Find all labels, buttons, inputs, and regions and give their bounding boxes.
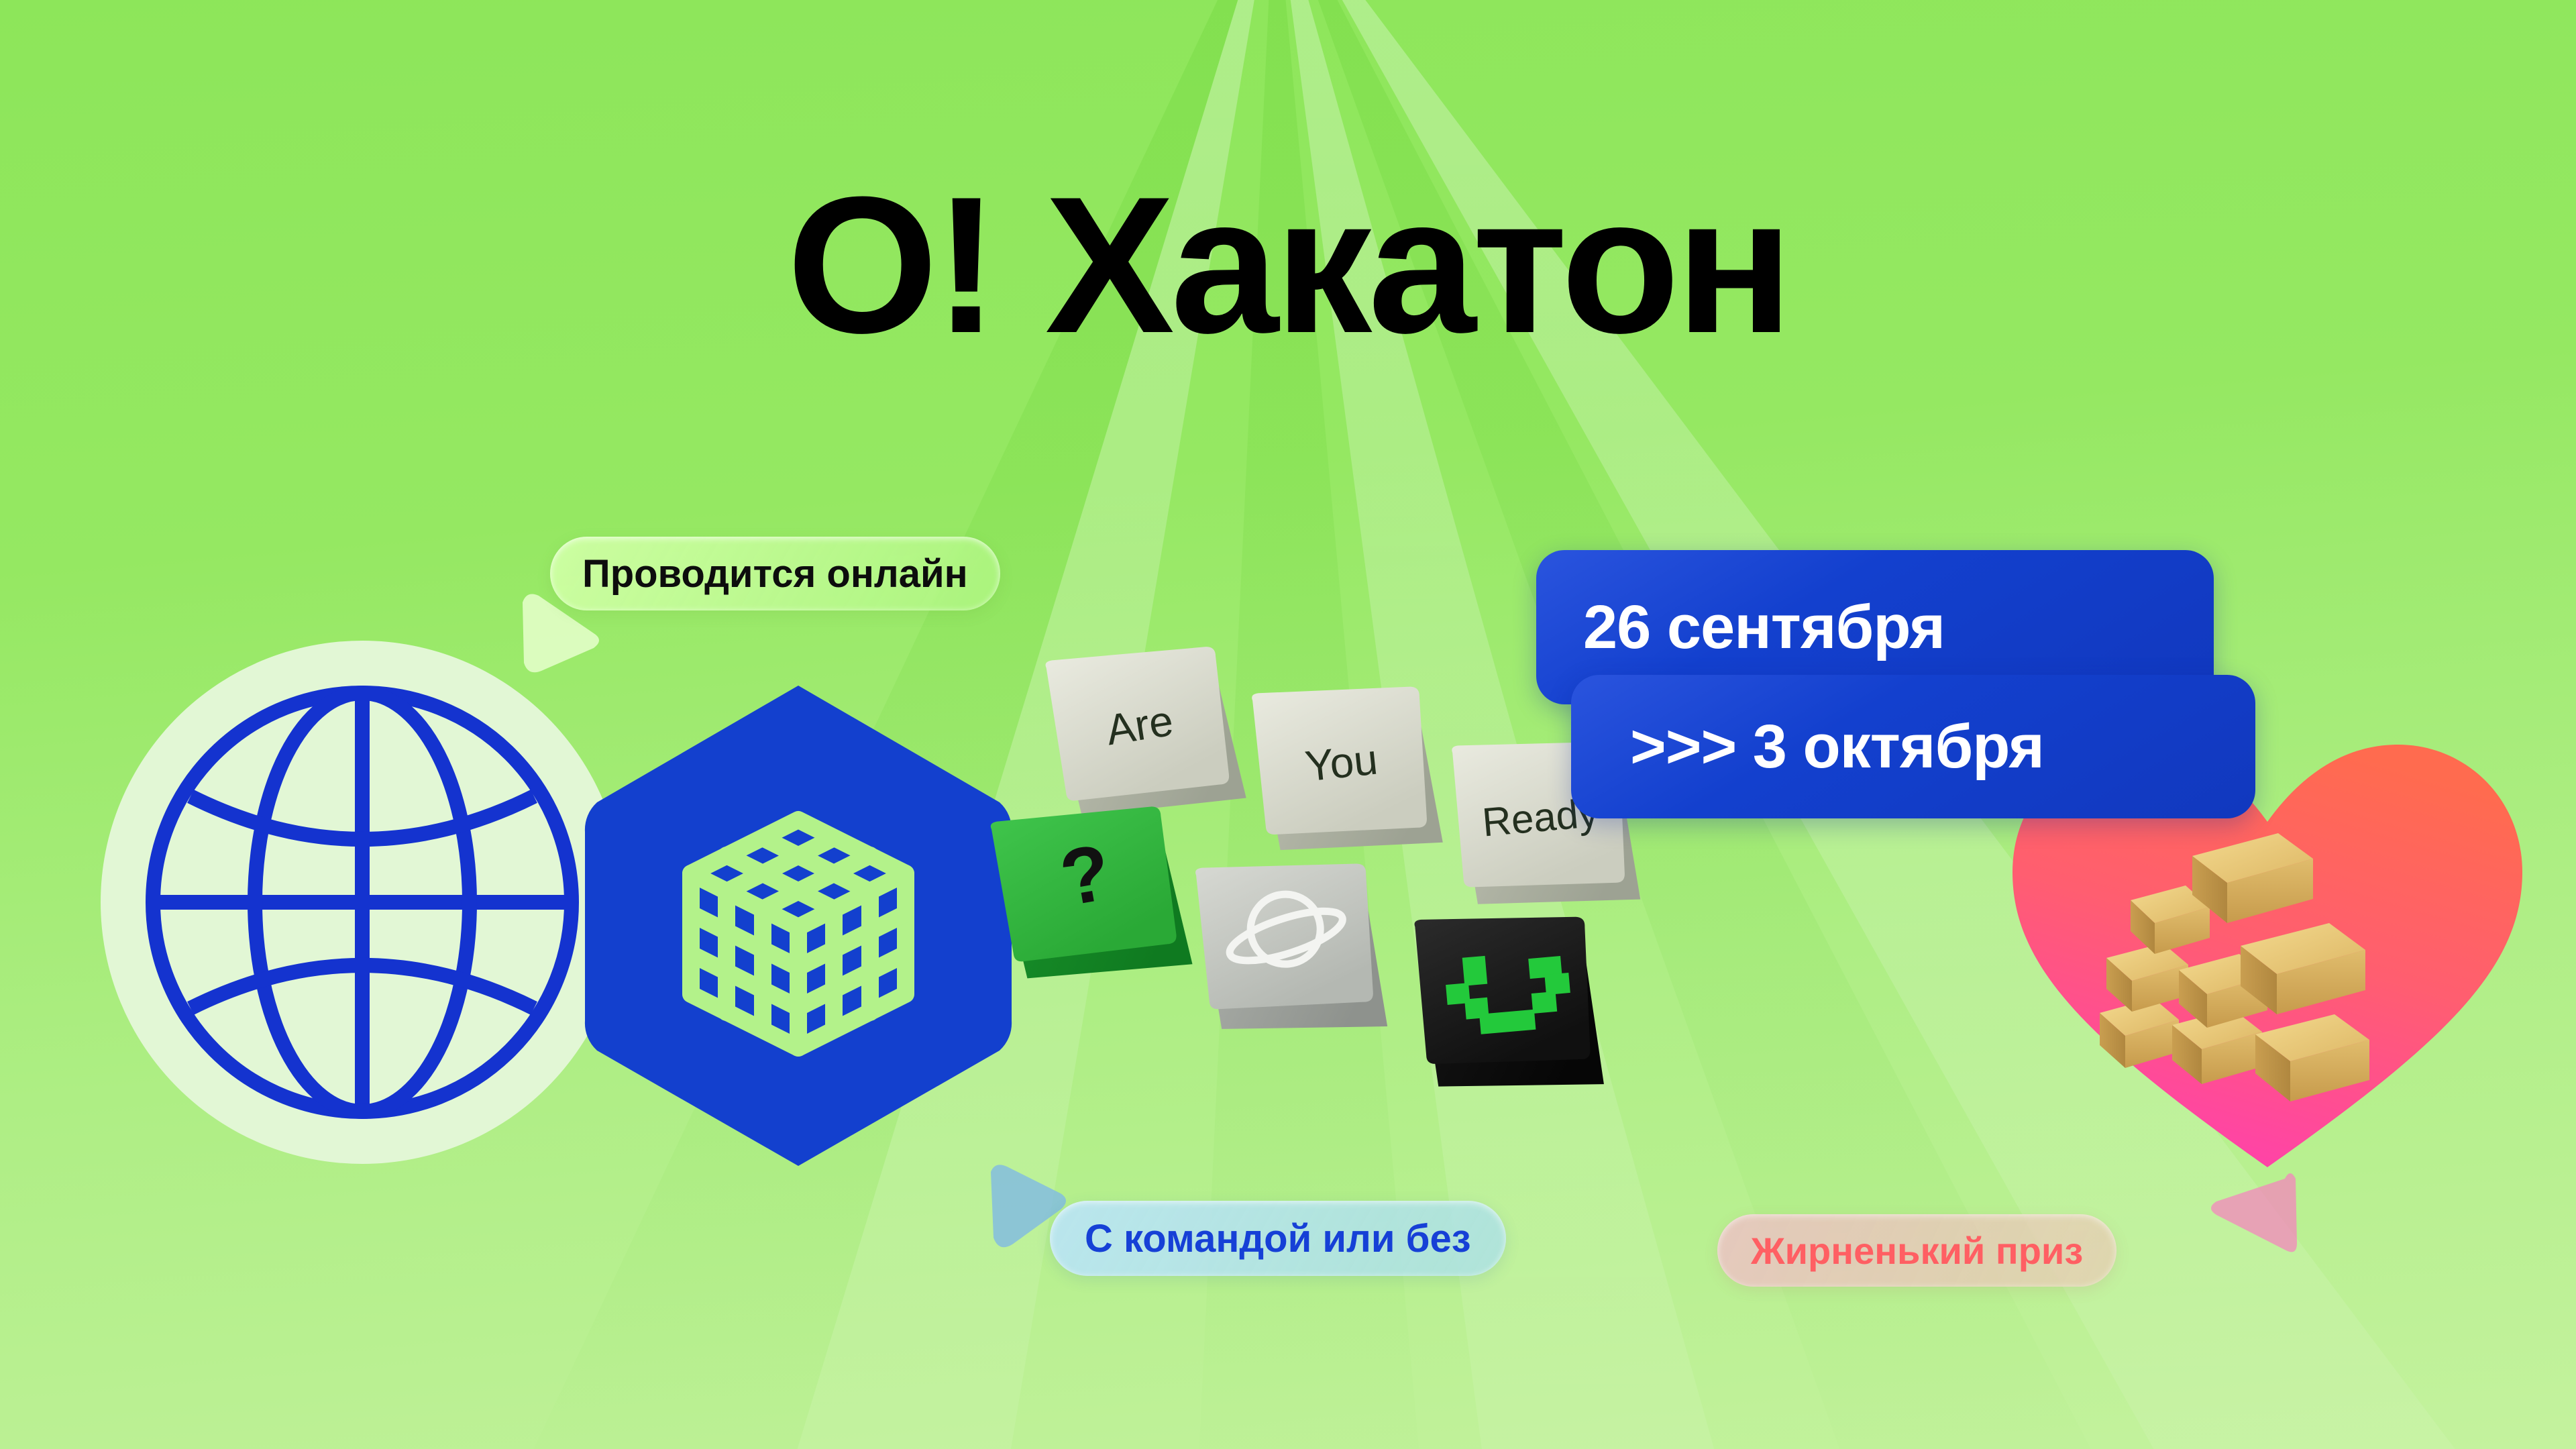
- date-end-label: >>> 3 октября: [1630, 712, 2044, 782]
- chip-pointer-prize: [2200, 1164, 2301, 1261]
- chip-online[interactable]: Проводится онлайн: [550, 537, 1000, 610]
- keycap-smiley: [1414, 905, 1604, 1099]
- rubiks-cube-icon: [577, 678, 1020, 1174]
- date-start-label: 26 сентября: [1583, 592, 1945, 663]
- keycap-label-you: You: [1303, 735, 1380, 791]
- hackathon-banner: О! Хакатон: [0, 0, 2576, 1449]
- chip-team[interactable]: С командой или без: [1050, 1201, 1506, 1276]
- globe-icon: [101, 641, 624, 1164]
- page-title: О! Хакатон: [0, 168, 2576, 362]
- keycap-question: ?: [990, 792, 1193, 994]
- date-badge: 26 сентября >>> 3 октября: [1536, 550, 2288, 818]
- keycap-you: You: [1252, 676, 1443, 861]
- keycap-label-are: Are: [1103, 696, 1177, 755]
- chip-team-label: С командой или без: [1085, 1216, 1471, 1261]
- chip-prize[interactable]: Жирненький приз: [1717, 1214, 2116, 1287]
- keycap-are: Are: [1045, 644, 1246, 826]
- date-badge-end-box: >>> 3 октября: [1571, 675, 2255, 818]
- chip-online-label: Проводится онлайн: [582, 551, 968, 596]
- chip-prize-label: Жирненький приз: [1751, 1229, 2083, 1273]
- keycap-planet: [1195, 850, 1387, 1044]
